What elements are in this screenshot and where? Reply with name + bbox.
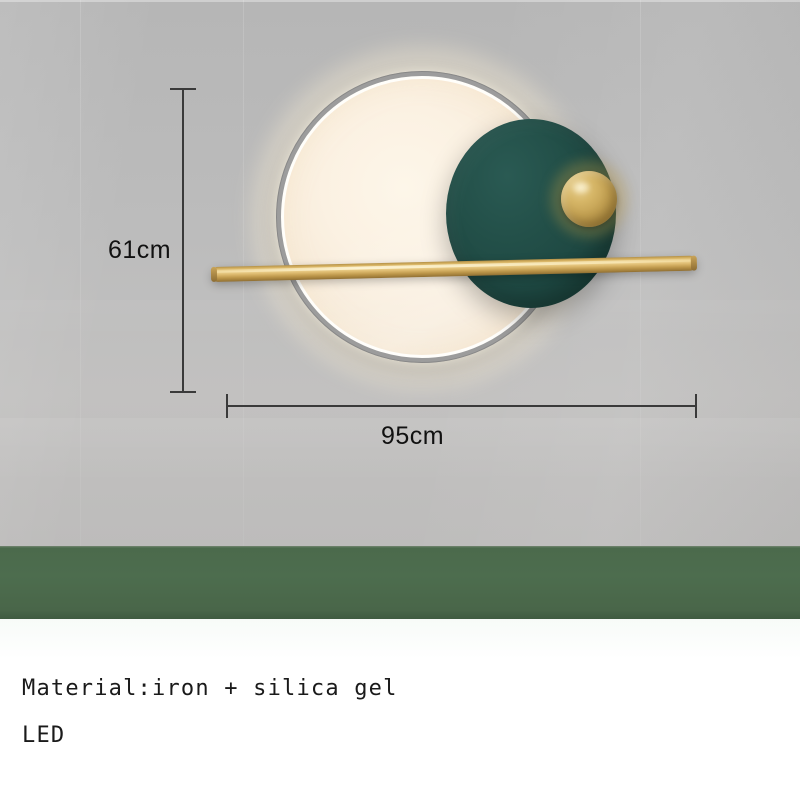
- width-dimension-label: 95cm: [381, 422, 444, 451]
- width-dimension-cap-right: [695, 394, 697, 418]
- height-dimension-line: [182, 88, 184, 393]
- light-source-spec-text: LED: [22, 723, 65, 748]
- brass-bar-cap-left: [211, 267, 217, 282]
- height-dimension-label: 61cm: [108, 236, 171, 265]
- wall-top-hairline: [0, 0, 800, 2]
- width-dimension-line: [226, 405, 697, 407]
- green-floor-band: [0, 547, 800, 619]
- brass-dome: [561, 171, 617, 227]
- white-caption-area: [0, 619, 800, 800]
- brass-dome-highlight: [572, 181, 590, 194]
- product-image-canvas: 61cm 95cm Material:iron + silica gel LED: [0, 0, 800, 800]
- brass-bar-cap-right: [691, 256, 697, 271]
- height-dimension-cap-bottom: [170, 391, 196, 393]
- material-spec-text: Material:iron + silica gel: [22, 676, 398, 701]
